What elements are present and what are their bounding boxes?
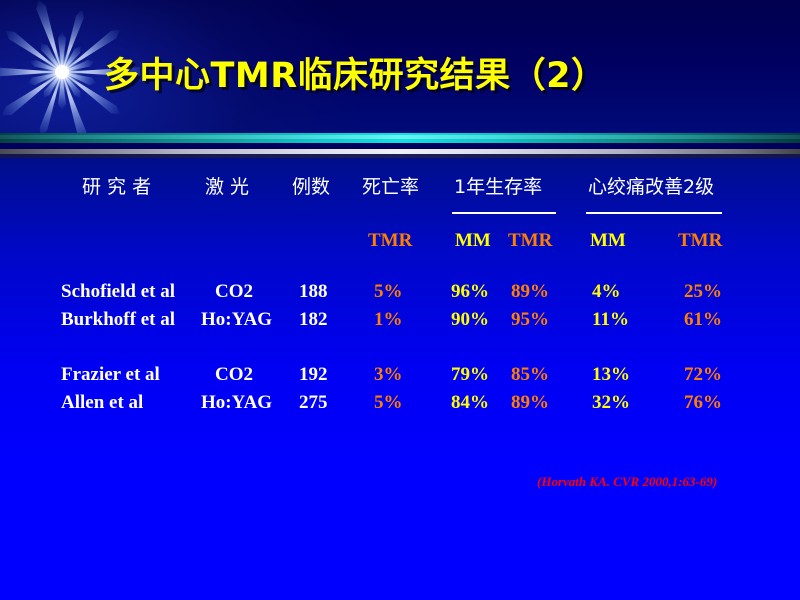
column-header-angina-class2: 心绞痛改善2级 <box>588 178 714 197</box>
column-header-mortality: 死亡率 <box>362 178 419 197</box>
table-row: Burkhoff et al <box>61 310 175 329</box>
table-row: 84% <box>451 393 489 412</box>
table-row: 96% <box>451 282 489 301</box>
subheader-survival-mm: MM <box>455 231 491 250</box>
column-header-survival-1yr: 1年生存率 <box>454 178 542 197</box>
column-header-cases: 例数 <box>292 178 330 197</box>
subheader-survival-tmr: TMR <box>508 231 552 250</box>
table-row: 192 <box>299 365 328 384</box>
subheader-mortality-tmr: TMR <box>368 231 412 250</box>
table-row: 5% <box>374 393 403 412</box>
table-row: 89% <box>511 393 549 412</box>
table-row: CO2 <box>215 365 253 384</box>
table-row: Allen et al <box>61 393 143 412</box>
table-row: 275 <box>299 393 328 412</box>
table-row: 90% <box>451 310 489 329</box>
column-header-author: 研 究 者 <box>82 178 151 197</box>
column-header-survival-underline <box>452 212 556 214</box>
table-row: CO2 <box>215 282 253 301</box>
table-row: 3% <box>374 365 403 384</box>
table-row: Ho:YAG <box>201 393 272 412</box>
table-row: 76% <box>684 393 722 412</box>
table-row: 5% <box>374 282 403 301</box>
table-row: Ho:YAG <box>201 310 272 329</box>
table-row: 4% <box>592 282 621 301</box>
table-row: 89% <box>511 282 549 301</box>
table-row: 11% <box>592 310 629 329</box>
subheader-angina-mm: MM <box>590 231 626 250</box>
table-row: 95% <box>511 310 549 329</box>
table-row: 1% <box>374 310 403 329</box>
results-table: 研 究 者 激 光 例数 死亡率 1年生存率 心绞痛改善2级 TMR MM TM… <box>0 0 800 600</box>
column-header-laser: 激 光 <box>205 178 249 197</box>
table-row: 25% <box>684 282 722 301</box>
subheader-angina-tmr: TMR <box>678 231 722 250</box>
table-row: 61% <box>684 310 722 329</box>
column-header-angina-underline <box>586 212 722 214</box>
table-row: 182 <box>299 310 328 329</box>
table-row: 72% <box>684 365 722 384</box>
table-row: 188 <box>299 282 328 301</box>
citation-reference: (Horvath KA. CVR 2000,1:63-69) <box>537 474 717 490</box>
table-row: 32% <box>592 393 630 412</box>
table-row: Frazier et al <box>61 365 160 384</box>
slide-canvas: 多中心TMR临床研究结果（2） 研 究 者 激 光 例数 死亡率 1年生存率 心… <box>0 0 800 600</box>
table-row: 85% <box>511 365 549 384</box>
table-row: Schofield et al <box>61 282 175 301</box>
table-row: 13% <box>592 365 630 384</box>
table-row: 79% <box>451 365 489 384</box>
